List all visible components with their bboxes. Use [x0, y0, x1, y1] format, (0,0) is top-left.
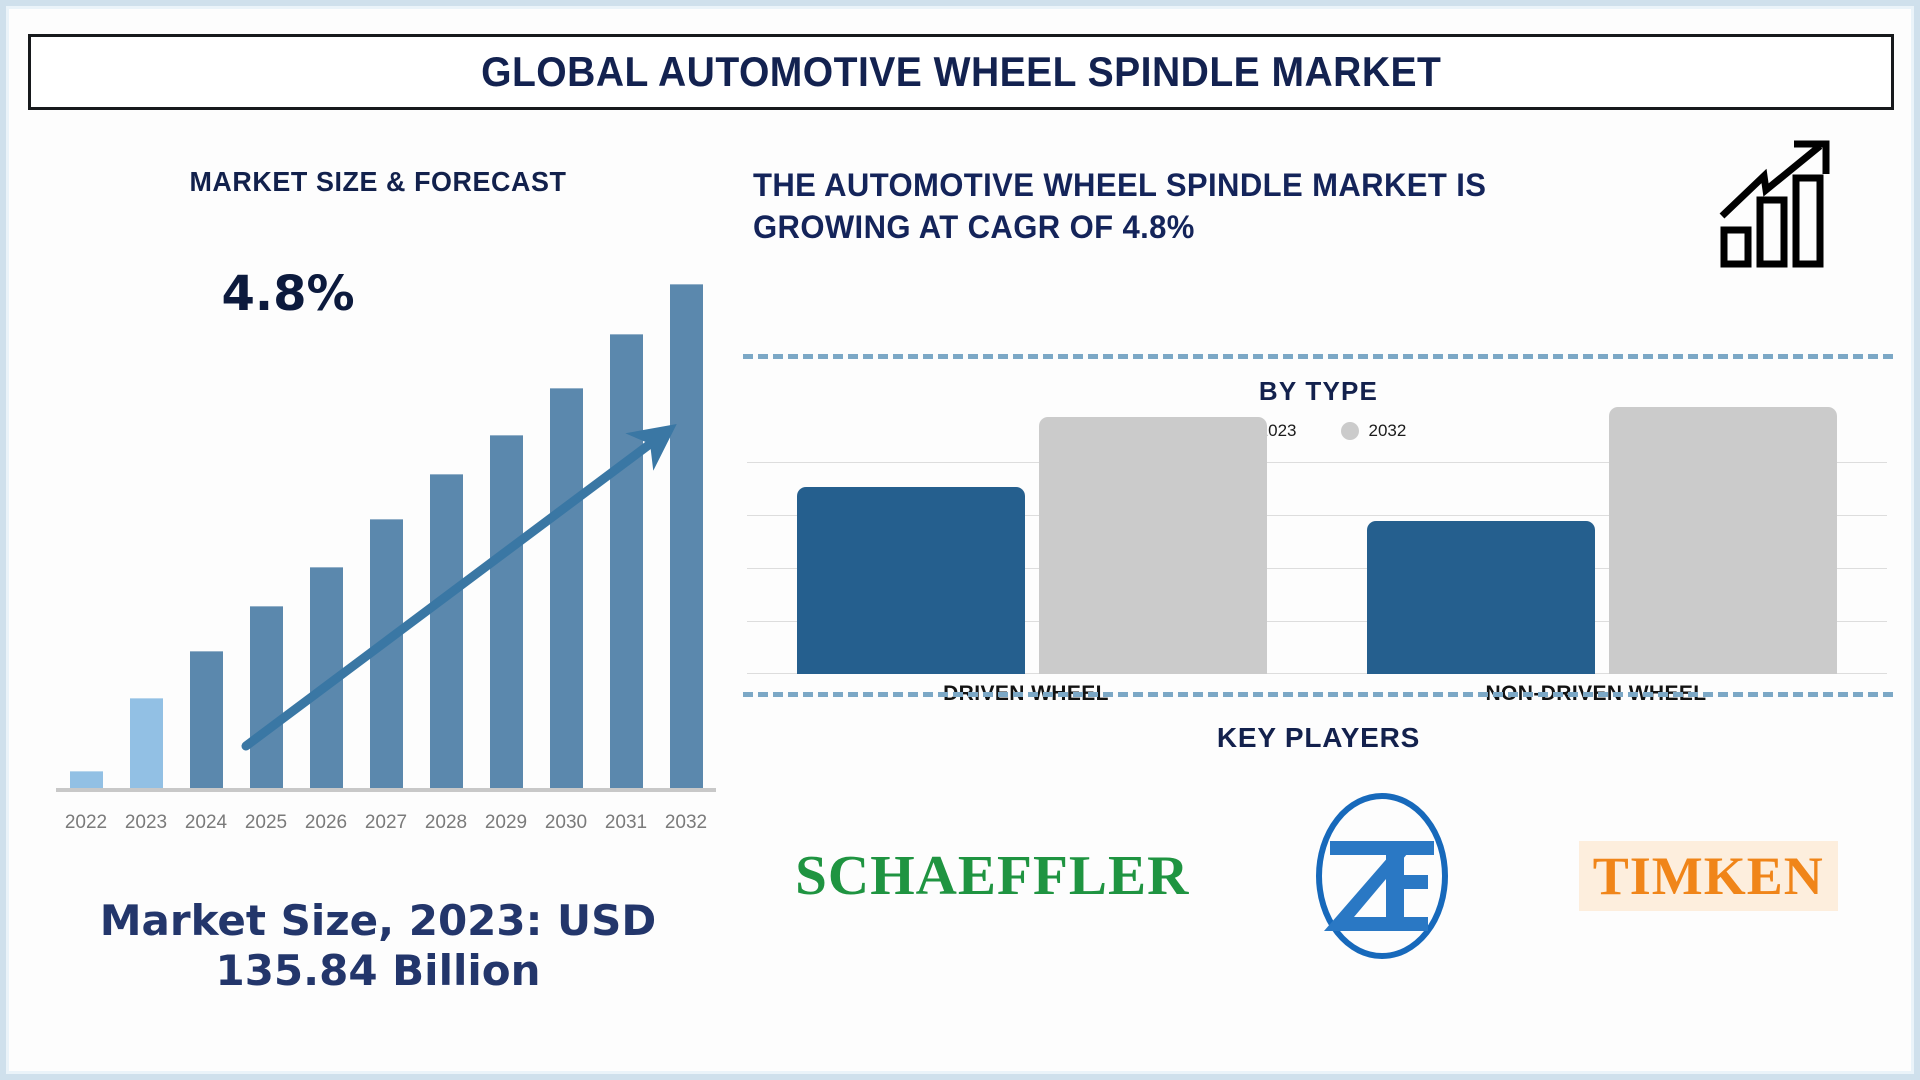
bar-2026	[310, 567, 343, 788]
legend-label-2032: 2032	[1369, 421, 1407, 441]
infographic-page: GLOBAL AUTOMOTIVE WHEEL SPINDLE MARKET M…	[0, 0, 1920, 1080]
bar-slot	[296, 228, 356, 788]
market-size-forecast-chart: 2022 2023 2024 2025 2026 2027 2028 2029 …	[28, 226, 728, 826]
year-label: 2032	[656, 812, 716, 834]
bar-chart-growth-icon	[1718, 138, 1838, 268]
bar-2031	[610, 334, 643, 788]
year-label: 2028	[416, 812, 476, 834]
key-players-row: SCHAEFFLER TIMKEN	[741, 776, 1896, 976]
legend-item-2032[interactable]: 2032	[1341, 421, 1407, 441]
x-axis-line	[56, 788, 716, 792]
by-type-chart	[747, 462, 1887, 674]
bar-driven-wheel-2023	[797, 487, 1025, 674]
year-label: 2025	[236, 812, 296, 834]
year-label: 2029	[476, 812, 536, 834]
year-label: 2023	[116, 812, 176, 834]
bar-2030	[550, 388, 583, 788]
bar-slot	[56, 228, 116, 788]
bar-slot	[236, 228, 296, 788]
bar-2029	[490, 435, 523, 788]
bar-slot	[476, 228, 536, 788]
bar-slot	[416, 228, 476, 788]
page-title-box: GLOBAL AUTOMOTIVE WHEEL SPINDLE MARKET	[28, 34, 1894, 110]
year-label: 2030	[536, 812, 596, 834]
section-divider-top	[743, 354, 1893, 359]
bar-group-non-driven-wheel	[1317, 462, 1887, 674]
bar-2022	[70, 771, 103, 788]
zf-logo[interactable]	[1302, 791, 1462, 961]
bar-slot	[536, 228, 596, 788]
bar-2025	[250, 606, 283, 788]
cagr-statement: THE AUTOMOTIVE WHEEL SPINDLE MARKET IS G…	[753, 164, 1645, 248]
market-size-2023-value: Market Size, 2023: USD 135.84 Billion	[48, 896, 708, 995]
market-size-bars	[56, 228, 716, 788]
bar-non-driven-wheel-2023	[1367, 521, 1595, 674]
bar-2024	[190, 651, 223, 788]
year-label: 2024	[176, 812, 236, 834]
page-title: GLOBAL AUTOMOTIVE WHEEL SPINDLE MARKET	[481, 48, 1441, 96]
year-label: 2027	[356, 812, 416, 834]
bar-slot	[176, 228, 236, 788]
bar-2028	[430, 474, 463, 788]
bar-2027	[370, 519, 403, 788]
bar-2032	[670, 284, 703, 788]
zf-logo-svg	[1302, 791, 1462, 961]
timken-logo[interactable]: TIMKEN	[1579, 841, 1838, 911]
market-size-forecast-panel: MARKET SIZE & FORECAST 4.8% 2022 2023	[28, 126, 728, 1066]
x-axis-year-labels: 2022 2023 2024 2025 2026 2027 2028 2029 …	[56, 812, 716, 834]
bar-slot	[356, 228, 416, 788]
bar-driven-wheel-2032	[1039, 417, 1267, 674]
key-players-title: KEY PLAYERS	[741, 722, 1896, 754]
timken-logo-text: TIMKEN	[1579, 841, 1838, 911]
by-type-bar-groups	[747, 462, 1887, 674]
by-type-title: BY TYPE	[741, 376, 1896, 407]
bar-non-driven-wheel-2032	[1609, 407, 1837, 674]
year-label: 2026	[296, 812, 356, 834]
right-content-panel: THE AUTOMOTIVE WHEEL SPINDLE MARKET IS G…	[741, 126, 1896, 1076]
year-label: 2022	[56, 812, 116, 834]
year-label: 2031	[596, 812, 656, 834]
section-divider-bottom	[743, 692, 1893, 697]
schaeffler-logo[interactable]: SCHAEFFLER	[799, 844, 1186, 908]
bar-slot	[656, 228, 716, 788]
bar-slot	[116, 228, 176, 788]
bar-2023	[130, 698, 163, 788]
bar-group-driven-wheel	[747, 462, 1317, 674]
bar-slot	[596, 228, 656, 788]
legend-dot-2032	[1341, 422, 1359, 440]
zf-logo-mark	[1302, 791, 1462, 961]
schaeffler-logo-text: SCHAEFFLER	[795, 844, 1189, 908]
market-size-forecast-heading: MARKET SIZE & FORECAST	[42, 166, 714, 198]
